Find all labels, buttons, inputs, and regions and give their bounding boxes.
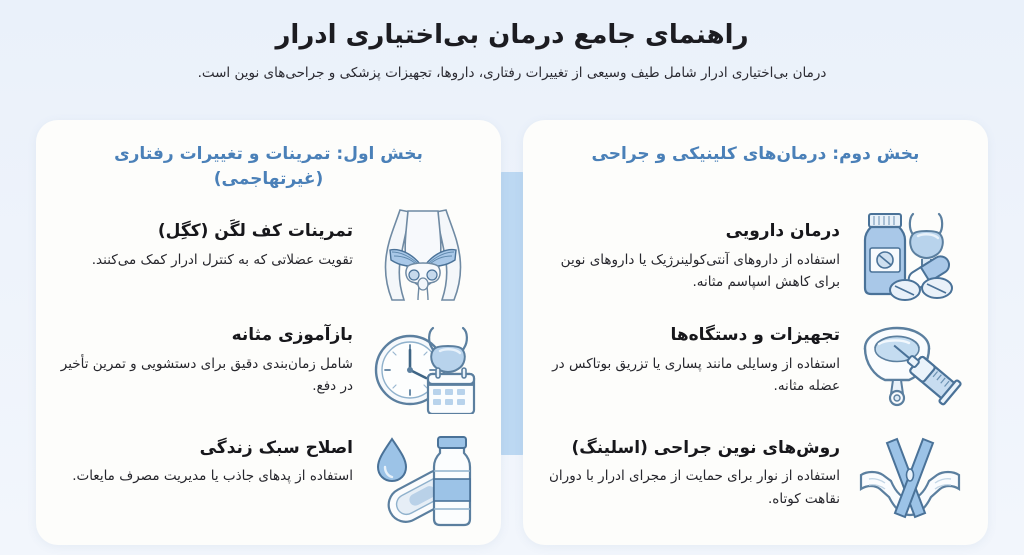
surgical-sling-icon bbox=[854, 429, 966, 529]
page-subtitle: درمان بی‌اختیاری ادرار شامل طیف وسیعی از… bbox=[0, 63, 1024, 83]
list-item-description: استفاده از داروهای آنتی‌کولینرژیک یا دار… bbox=[545, 249, 840, 294]
cards-container: بخش اول: تمرینات و تغییرات رفتاری (غیرته… bbox=[0, 120, 1024, 545]
list-item-description: استفاده از نوار برای حمایت از مجرای ادرا… bbox=[545, 465, 840, 510]
card-section-two: بخش دوم: درمان‌های کلینیکی و جراحی bbox=[523, 120, 988, 545]
pelvic-floor-anatomy-icon bbox=[367, 204, 479, 304]
infographic-page: راهنمای جامع درمان بی‌اختیاری ادرار درما… bbox=[0, 0, 1024, 555]
card-section-one: بخش اول: تمرینات و تغییرات رفتاری (غیرته… bbox=[36, 120, 501, 545]
list-item-title: اصلاح سبک زندگی bbox=[58, 437, 353, 461]
list-item-title: تجهیزات و دستگاه‌ها bbox=[545, 324, 840, 348]
list-item-description: تقویت عضلاتی که به کنترل ادرار کمک می‌کن… bbox=[58, 249, 353, 271]
list-item-title: روش‌های نوین جراحی (اسلینگ) bbox=[545, 437, 840, 461]
card-section-two-items: درمان دارویی استفاده از داروهای آنتی‌کول… bbox=[545, 198, 966, 535]
list-item: تمرینات کف لگَن (کگِل) تقویت عضلاتی که ب… bbox=[58, 198, 479, 310]
header: راهنمای جامع درمان بی‌اختیاری ادرار درما… bbox=[0, 0, 1024, 83]
card-section-one-title: بخش اول: تمرینات و تغییرات رفتاری (غیرته… bbox=[58, 138, 479, 194]
list-item-title: بازآموزی مثانه bbox=[58, 324, 353, 348]
list-item: تجهیزات و دستگاه‌ها استفاده از وسایلی ما… bbox=[545, 310, 966, 422]
list-item: بازآموزی مثانه شامل زمان‌بندی دقیق برای … bbox=[58, 310, 479, 422]
pad-water-bottle-icon bbox=[367, 429, 479, 529]
list-item-text: بازآموزی مثانه شامل زمان‌بندی دقیق برای … bbox=[58, 316, 353, 397]
list-item: روش‌های نوین جراحی (اسلینگ) استفاده از ن… bbox=[545, 423, 966, 535]
list-item-title: تمرینات کف لگَن (کگِل) bbox=[58, 220, 353, 244]
list-item-text: تجهیزات و دستگاه‌ها استفاده از وسایلی ما… bbox=[545, 316, 840, 397]
list-item-text: اصلاح سبک زندگی استفاده از پدهای جاذب یا… bbox=[58, 429, 353, 488]
list-item: اصلاح سبک زندگی استفاده از پدهای جاذب یا… bbox=[58, 423, 479, 535]
pill-bottle-bladder-icon bbox=[854, 204, 966, 304]
list-item: درمان دارویی استفاده از داروهای آنتی‌کول… bbox=[545, 198, 966, 310]
list-item-description: شامل زمان‌بندی دقیق برای دستشویی و تمرین… bbox=[58, 353, 353, 398]
list-item-text: تمرینات کف لگَن (کگِل) تقویت عضلاتی که ب… bbox=[58, 204, 353, 271]
card-section-two-title: بخش دوم: درمان‌های کلینیکی و جراحی bbox=[545, 138, 966, 194]
list-item-text: روش‌های نوین جراحی (اسلینگ) استفاده از ن… bbox=[545, 429, 840, 510]
list-item-text: درمان دارویی استفاده از داروهای آنتی‌کول… bbox=[545, 204, 840, 293]
list-item-description: استفاده از وسایلی مانند پساری یا تزریق ب… bbox=[545, 353, 840, 398]
list-item-title: درمان دارویی bbox=[545, 220, 840, 244]
list-item-description: استفاده از پدهای جاذب یا مدیریت مصرف مای… bbox=[58, 465, 353, 487]
card-section-one-items: تمرینات کف لگَن (کگِل) تقویت عضلاتی که ب… bbox=[58, 198, 479, 535]
pessary-syringe-icon bbox=[854, 316, 966, 416]
clock-bladder-calendar-icon bbox=[367, 316, 479, 416]
page-title: راهنمای جامع درمان بی‌اختیاری ادرار bbox=[0, 18, 1024, 53]
